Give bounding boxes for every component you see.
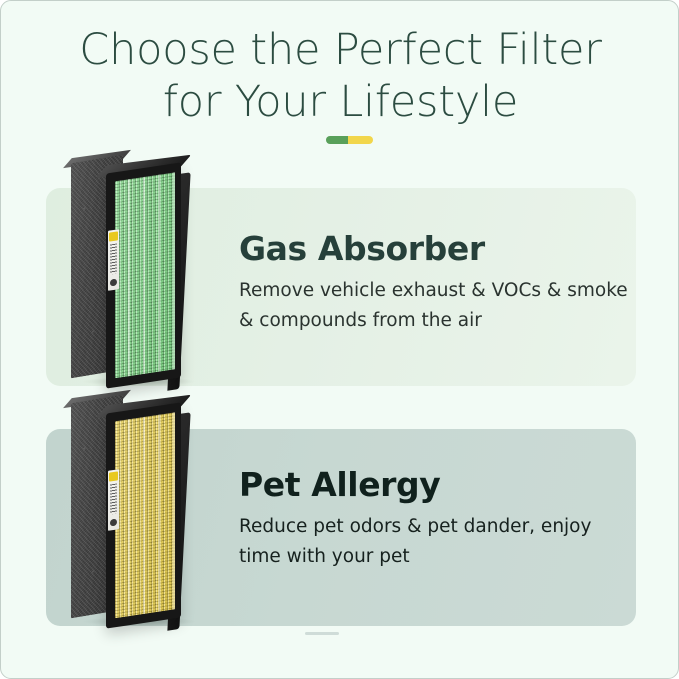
page-title: Choose the Perfect Filter for Your Lifes…: [1, 24, 679, 128]
pleat-separator-bands: [115, 172, 175, 378]
card-heading: Gas Absorber: [239, 230, 636, 268]
product-spec-label: [108, 229, 119, 291]
card-description: Remove vehicle exhaust & VOCs & smoke & …: [239, 276, 636, 336]
label-barcode-lines: [110, 483, 117, 514]
infographic-page: Choose the Perfect Filter for Your Lifes…: [0, 0, 679, 679]
card-text-block: Gas Absorber Remove vehicle exhaust & VO…: [239, 230, 636, 336]
page-title-line-2: for Your Lifestyle: [1, 76, 679, 128]
pill-green-half: [326, 136, 348, 144]
card-text-block: Pet Allergy Reduce pet odors & pet dande…: [239, 466, 636, 572]
product-image-green-hepa-filter: [59, 154, 219, 394]
page-title-line-1: Choose the Perfect Filter: [1, 24, 679, 76]
label-dot-icon: [110, 278, 117, 286]
label-dot-icon: [110, 518, 117, 526]
label-barcode-lines: [110, 243, 117, 274]
pill-yellow-half: [348, 136, 373, 144]
card-heading: Pet Allergy: [239, 466, 636, 504]
pleat-separator-bands: [115, 412, 175, 618]
card-description: Reduce pet odors & pet dander, enjoy tim…: [239, 512, 636, 572]
product-image-yellow-hepa-filter: [59, 394, 219, 634]
product-spec-label: [108, 469, 119, 531]
bottom-accent-line: [305, 632, 339, 635]
label-badge-icon: [109, 471, 118, 481]
label-badge-icon: [109, 231, 118, 241]
two-tone-pill-divider: [326, 136, 373, 144]
